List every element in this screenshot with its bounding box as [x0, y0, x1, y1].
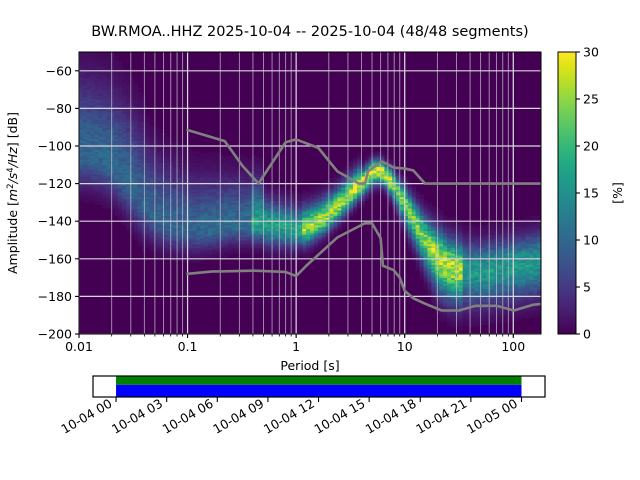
density-cell — [427, 202, 431, 204]
density-cell — [302, 189, 306, 191]
density-cell — [431, 206, 435, 208]
density-cell — [412, 185, 416, 187]
density-cell — [326, 180, 330, 182]
density-cell — [138, 91, 142, 93]
density-cell — [196, 152, 200, 154]
density-cell — [283, 185, 287, 187]
density-cell — [142, 95, 146, 97]
density-cell — [114, 60, 118, 62]
density-cell — [251, 155, 255, 157]
density-cell — [157, 129, 161, 131]
density-cell — [138, 88, 142, 90]
density-cell — [114, 56, 118, 58]
density-cell — [341, 169, 345, 171]
density-cell — [149, 125, 153, 127]
density-cell — [318, 185, 322, 187]
density-cell — [146, 116, 150, 118]
density-cell — [224, 155, 228, 157]
page-title: BW.RMOA..HHZ 2025-10-04 -- 2025-10-04 (4… — [91, 24, 528, 40]
density-cell — [243, 157, 247, 159]
density-cell — [314, 185, 318, 187]
density-cell — [212, 152, 216, 154]
density-cell — [439, 210, 443, 212]
density-cell — [333, 174, 337, 176]
density-cell — [189, 150, 193, 152]
density-cell — [153, 131, 157, 133]
density-cell — [365, 155, 369, 157]
density-cell — [185, 148, 189, 150]
density-cell — [247, 159, 251, 161]
density-cell — [380, 152, 384, 154]
density-cell — [357, 154, 361, 156]
density-cell — [306, 191, 310, 193]
density-cell — [134, 84, 138, 86]
density-cell — [240, 155, 244, 157]
density-cell — [310, 187, 314, 189]
density-cell — [259, 157, 263, 159]
density-cell — [420, 195, 424, 197]
figure-canvas: BW.RMOA..HHZ 2025-10-04 -- 2025-10-04 (4… — [0, 0, 640, 480]
density-cell — [149, 120, 153, 122]
density-cell — [216, 154, 220, 156]
density-cell — [228, 155, 232, 157]
density-cell — [345, 165, 349, 167]
density-cell — [196, 155, 200, 157]
density-cell — [153, 127, 157, 129]
density-cell — [204, 154, 208, 156]
density-cell — [177, 142, 181, 144]
density-cell — [275, 185, 279, 187]
density-cell — [349, 161, 353, 163]
density-cell — [118, 61, 122, 63]
density-cell — [200, 154, 204, 156]
density-cell — [373, 152, 377, 154]
density-cell — [287, 189, 291, 191]
density-cell — [416, 191, 420, 193]
density-cell — [165, 137, 169, 139]
density-cell — [193, 152, 197, 154]
density-cell — [400, 170, 404, 172]
density-cell — [255, 157, 259, 159]
density-cell — [443, 216, 447, 218]
density-cell — [208, 152, 212, 154]
density-cell — [157, 133, 161, 135]
density-cell — [298, 193, 302, 195]
density-cell — [388, 159, 392, 161]
density-cell — [451, 217, 455, 219]
ppsd-figure: BW.RMOA..HHZ 2025-10-04 -- 2025-10-04 (4… — [0, 0, 640, 480]
density-cell — [169, 142, 173, 144]
density-cell — [353, 157, 357, 159]
density-cell — [447, 217, 451, 219]
density-cell — [424, 201, 428, 203]
density-cell — [110, 212, 114, 214]
density-cell — [330, 178, 334, 180]
